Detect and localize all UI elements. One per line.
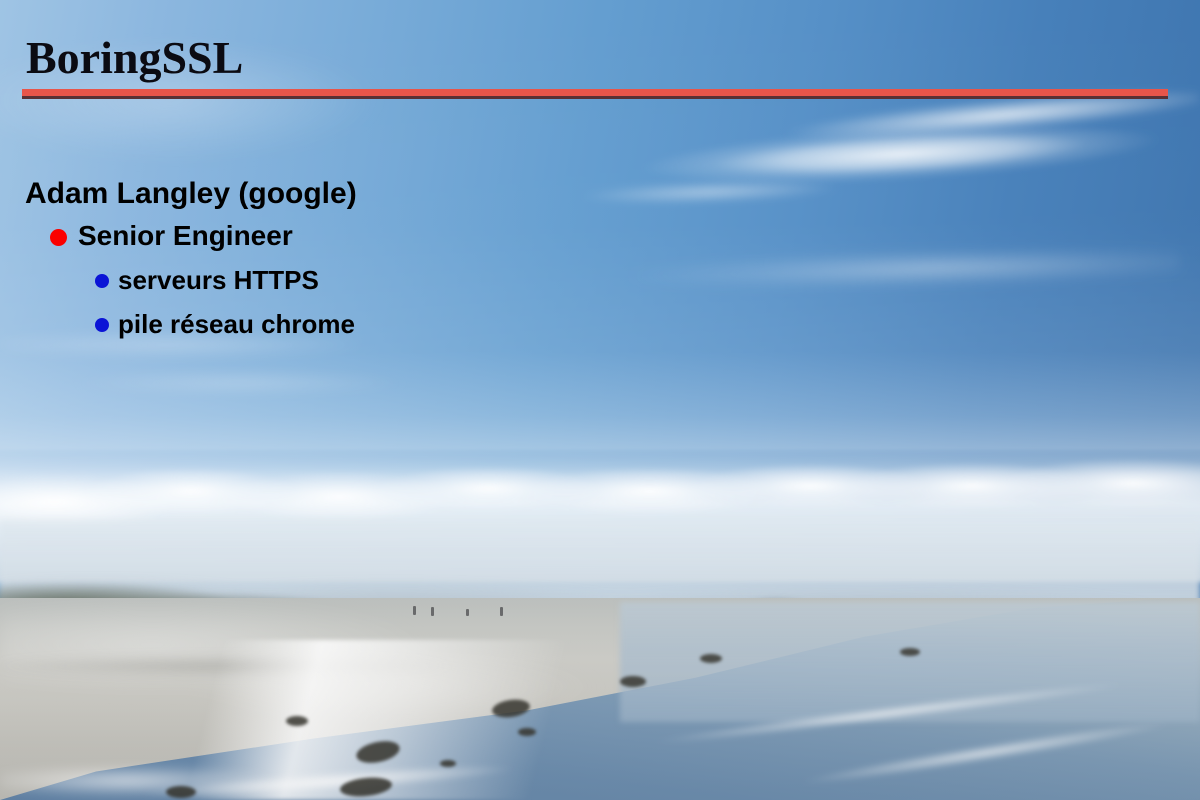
seaweed-rock (700, 654, 722, 663)
seaweed-rock (620, 676, 646, 687)
slide-title: BoringSSL (26, 32, 243, 84)
seaweed-rock (440, 760, 456, 767)
bullet-text: Adam Langley (google) (25, 174, 357, 214)
seaweed-rock (900, 648, 920, 656)
title-underline-rule (22, 89, 1168, 99)
distant-person (431, 607, 434, 616)
seaweed-rock (166, 786, 196, 798)
slide-bullet-list: Adam Langley (google)Senior Engineerserv… (0, 174, 1100, 346)
bullet-text: Senior Engineer (78, 214, 293, 258)
seaweed-rock (518, 728, 536, 736)
bullet-row: pile réseau chrome (95, 302, 1100, 346)
seaweed-rock (286, 716, 308, 726)
distant-person (466, 609, 469, 616)
blue-bullet-icon (95, 274, 109, 288)
blue-bullet-icon (95, 318, 109, 332)
distant-person (500, 607, 503, 616)
bullet-text: serveurs HTTPS (118, 258, 319, 302)
presentation-slide: BoringSSL Adam Langley (google)Senior En… (0, 0, 1200, 800)
cloud-wisp-mid-left-2 (70, 370, 410, 396)
bullet-row: Adam Langley (google) (25, 174, 1100, 214)
red-bullet-icon (50, 229, 67, 246)
distant-person (413, 606, 416, 615)
bullet-text: pile réseau chrome (118, 302, 355, 346)
bullet-row: serveurs HTTPS (95, 258, 1100, 302)
bullet-row: Senior Engineer (50, 214, 1100, 258)
